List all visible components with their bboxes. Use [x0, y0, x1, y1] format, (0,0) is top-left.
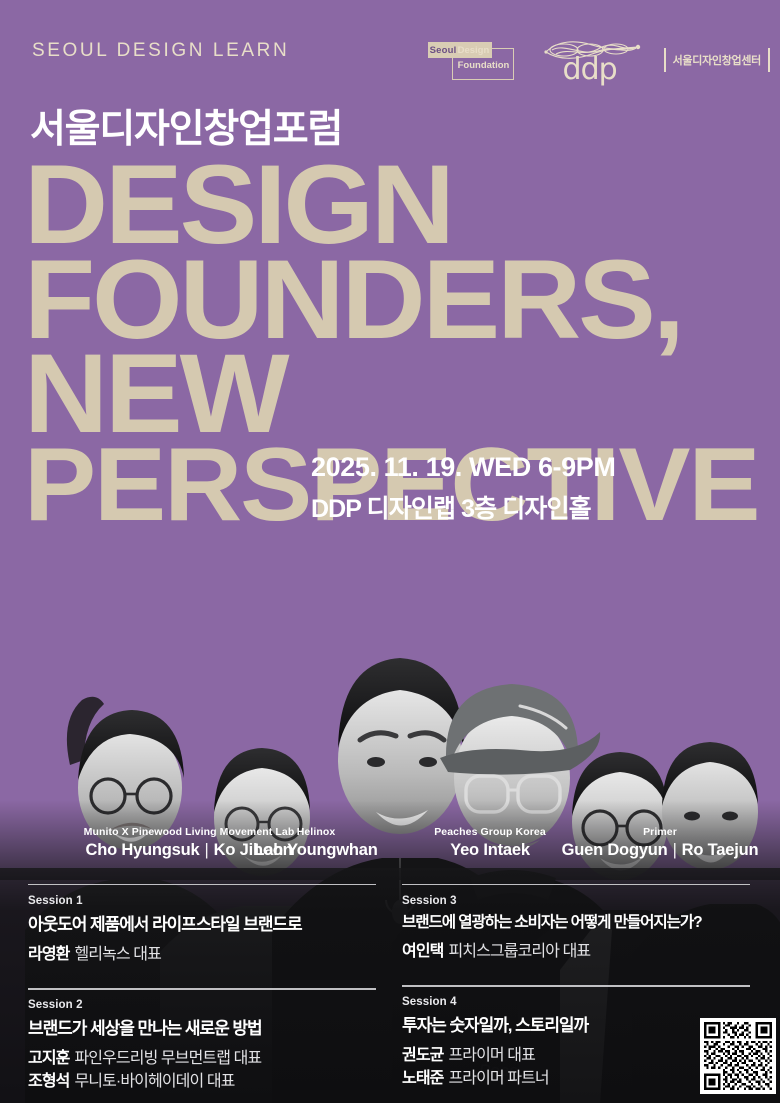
session-speaker-4-2: 노태준프라이머 파트너: [402, 1067, 750, 1090]
session-title-3: 브랜드에 열광하는 소비자는 어떻게 만들어지는가?: [402, 910, 750, 932]
qr-code[interactable]: [700, 1018, 776, 1094]
sdf-line2: Design: [458, 45, 490, 56]
session-title-4: 투자는 숫자일까, 스토리일까: [402, 1011, 750, 1036]
ddp-logo: ddp: [542, 36, 638, 84]
session-speaker-2-1: 고지훈파인우드리빙 무브먼트랩 대표: [28, 1047, 376, 1070]
session-speaker-name-4-2: 노태준: [402, 1070, 443, 1087]
session-title-2: 브랜드가 세상을 만나는 새로운 방법: [28, 1014, 376, 1039]
session-speaker-4-1: 권도균프라이머 대표: [402, 1044, 750, 1067]
session-divider-3: [402, 884, 750, 885]
session-divider-4: [402, 985, 750, 986]
session-speaker-name-2-1: 고지훈: [28, 1050, 69, 1067]
session-block-2[interactable]: Session 2 브랜드가 세상을 만나는 새로운 방법 고지훈파인우드리빙 …: [28, 988, 376, 1093]
session-speaker-role-4-1: 프라이머 대표: [448, 1047, 534, 1064]
brand-line: SEOUL DESIGN LEARN: [32, 40, 289, 62]
speaker-name-4a: Guen Dogyun: [562, 841, 668, 859]
session-divider-2: [28, 988, 376, 989]
session-speaker-1-1: 라영환헬리녹스 대표: [28, 943, 376, 966]
qr-code-icon: [704, 1022, 772, 1090]
session-block-1[interactable]: Session 1 아웃도어 제품에서 라이프스타일 브랜드로 라영환헬리녹스 …: [28, 884, 376, 966]
session-label-3: Session 3: [402, 895, 750, 907]
session-speaker-name-2-2: 조형석: [28, 1073, 69, 1090]
seoul-design-startup-center-logo: 서울디자인창업센터: [664, 48, 770, 72]
session-column-right: Session 3 브랜드에 열광하는 소비자는 어떻게 만들어지는가? 여인택…: [402, 884, 750, 1091]
logo-group: Seoul Design Foundation ddp: [428, 36, 770, 84]
sdsc-text: 서울디자인창업센터: [673, 52, 761, 68]
speaker-caption-4: Primer Guen Dogyun|Ro Taejun: [540, 826, 780, 860]
session-column-left: Session 1 아웃도어 제품에서 라이프스타일 브랜드로 라영환헬리녹스 …: [28, 884, 376, 1094]
ddp-wordmark: ddp: [563, 52, 617, 87]
session-speaker-role-1-1: 헬리녹스 대표: [74, 946, 160, 963]
session-speaker-name-4-1: 권도균: [402, 1047, 443, 1064]
speaker-org-4: Primer: [540, 826, 780, 838]
session-label-4: Session 4: [402, 996, 750, 1008]
session-divider-1: [28, 884, 376, 885]
session-title-1: 아웃도어 제품에서 라이프스타일 브랜드로: [28, 910, 376, 935]
speaker-name-separator-4: |: [668, 841, 682, 859]
speaker-name-3a: Yeo Intaek: [450, 841, 530, 859]
speaker-captions: Munito X Pinewood Living Movement Lab Ch…: [0, 826, 780, 872]
session-block-3[interactable]: Session 3 브랜드에 열광하는 소비자는 어떻게 만들어지는가? 여인택…: [402, 884, 750, 963]
session-speaker-role-2-1: 파인우드리빙 무브먼트랩 대표: [74, 1050, 261, 1067]
session-speaker-2-2: 조형석무니토·바이헤이데이 대표: [28, 1070, 376, 1093]
speaker-names-4: Guen Dogyun|Ro Taejun: [540, 841, 780, 860]
session-block-4[interactable]: Session 4 투자는 숫자일까, 스토리일까 권도균프라이머 대표 노태준…: [402, 985, 750, 1090]
event-info: 2025. 11. 19. WED 6-9PM DDP 디자인랩 3층 디자인홀: [311, 452, 615, 525]
session-speaker-role-4-2: 프라이머 파트너: [448, 1070, 548, 1087]
event-venue: DDP 디자인랩 3층 디자인홀: [311, 489, 615, 525]
sdf-line1: Seoul: [430, 45, 457, 56]
event-date: 2025. 11. 19. WED 6-9PM: [311, 452, 615, 483]
session-speaker-role-2-2: 무니토·바이헤이데이 대표: [74, 1073, 234, 1090]
session-speaker-3-1: 여인택피치스그룹코리아 대표: [402, 940, 750, 963]
speaker-name-4b: Ro Taejun: [682, 841, 759, 859]
session-label-1: Session 1: [28, 895, 376, 907]
session-speaker-name-3-1: 여인택: [402, 943, 443, 960]
seoul-design-foundation-logo: Seoul Design Foundation: [428, 40, 516, 80]
session-speaker-role-3-1: 피치스그룹코리아 대표: [448, 943, 590, 960]
session-label-2: Session 2: [28, 999, 376, 1011]
sdf-line3: Foundation: [458, 60, 510, 71]
poster-root: SEOUL DESIGN LEARN Seoul Design Foundati…: [0, 0, 780, 1103]
session-speaker-name-1-1: 라영환: [28, 946, 69, 963]
